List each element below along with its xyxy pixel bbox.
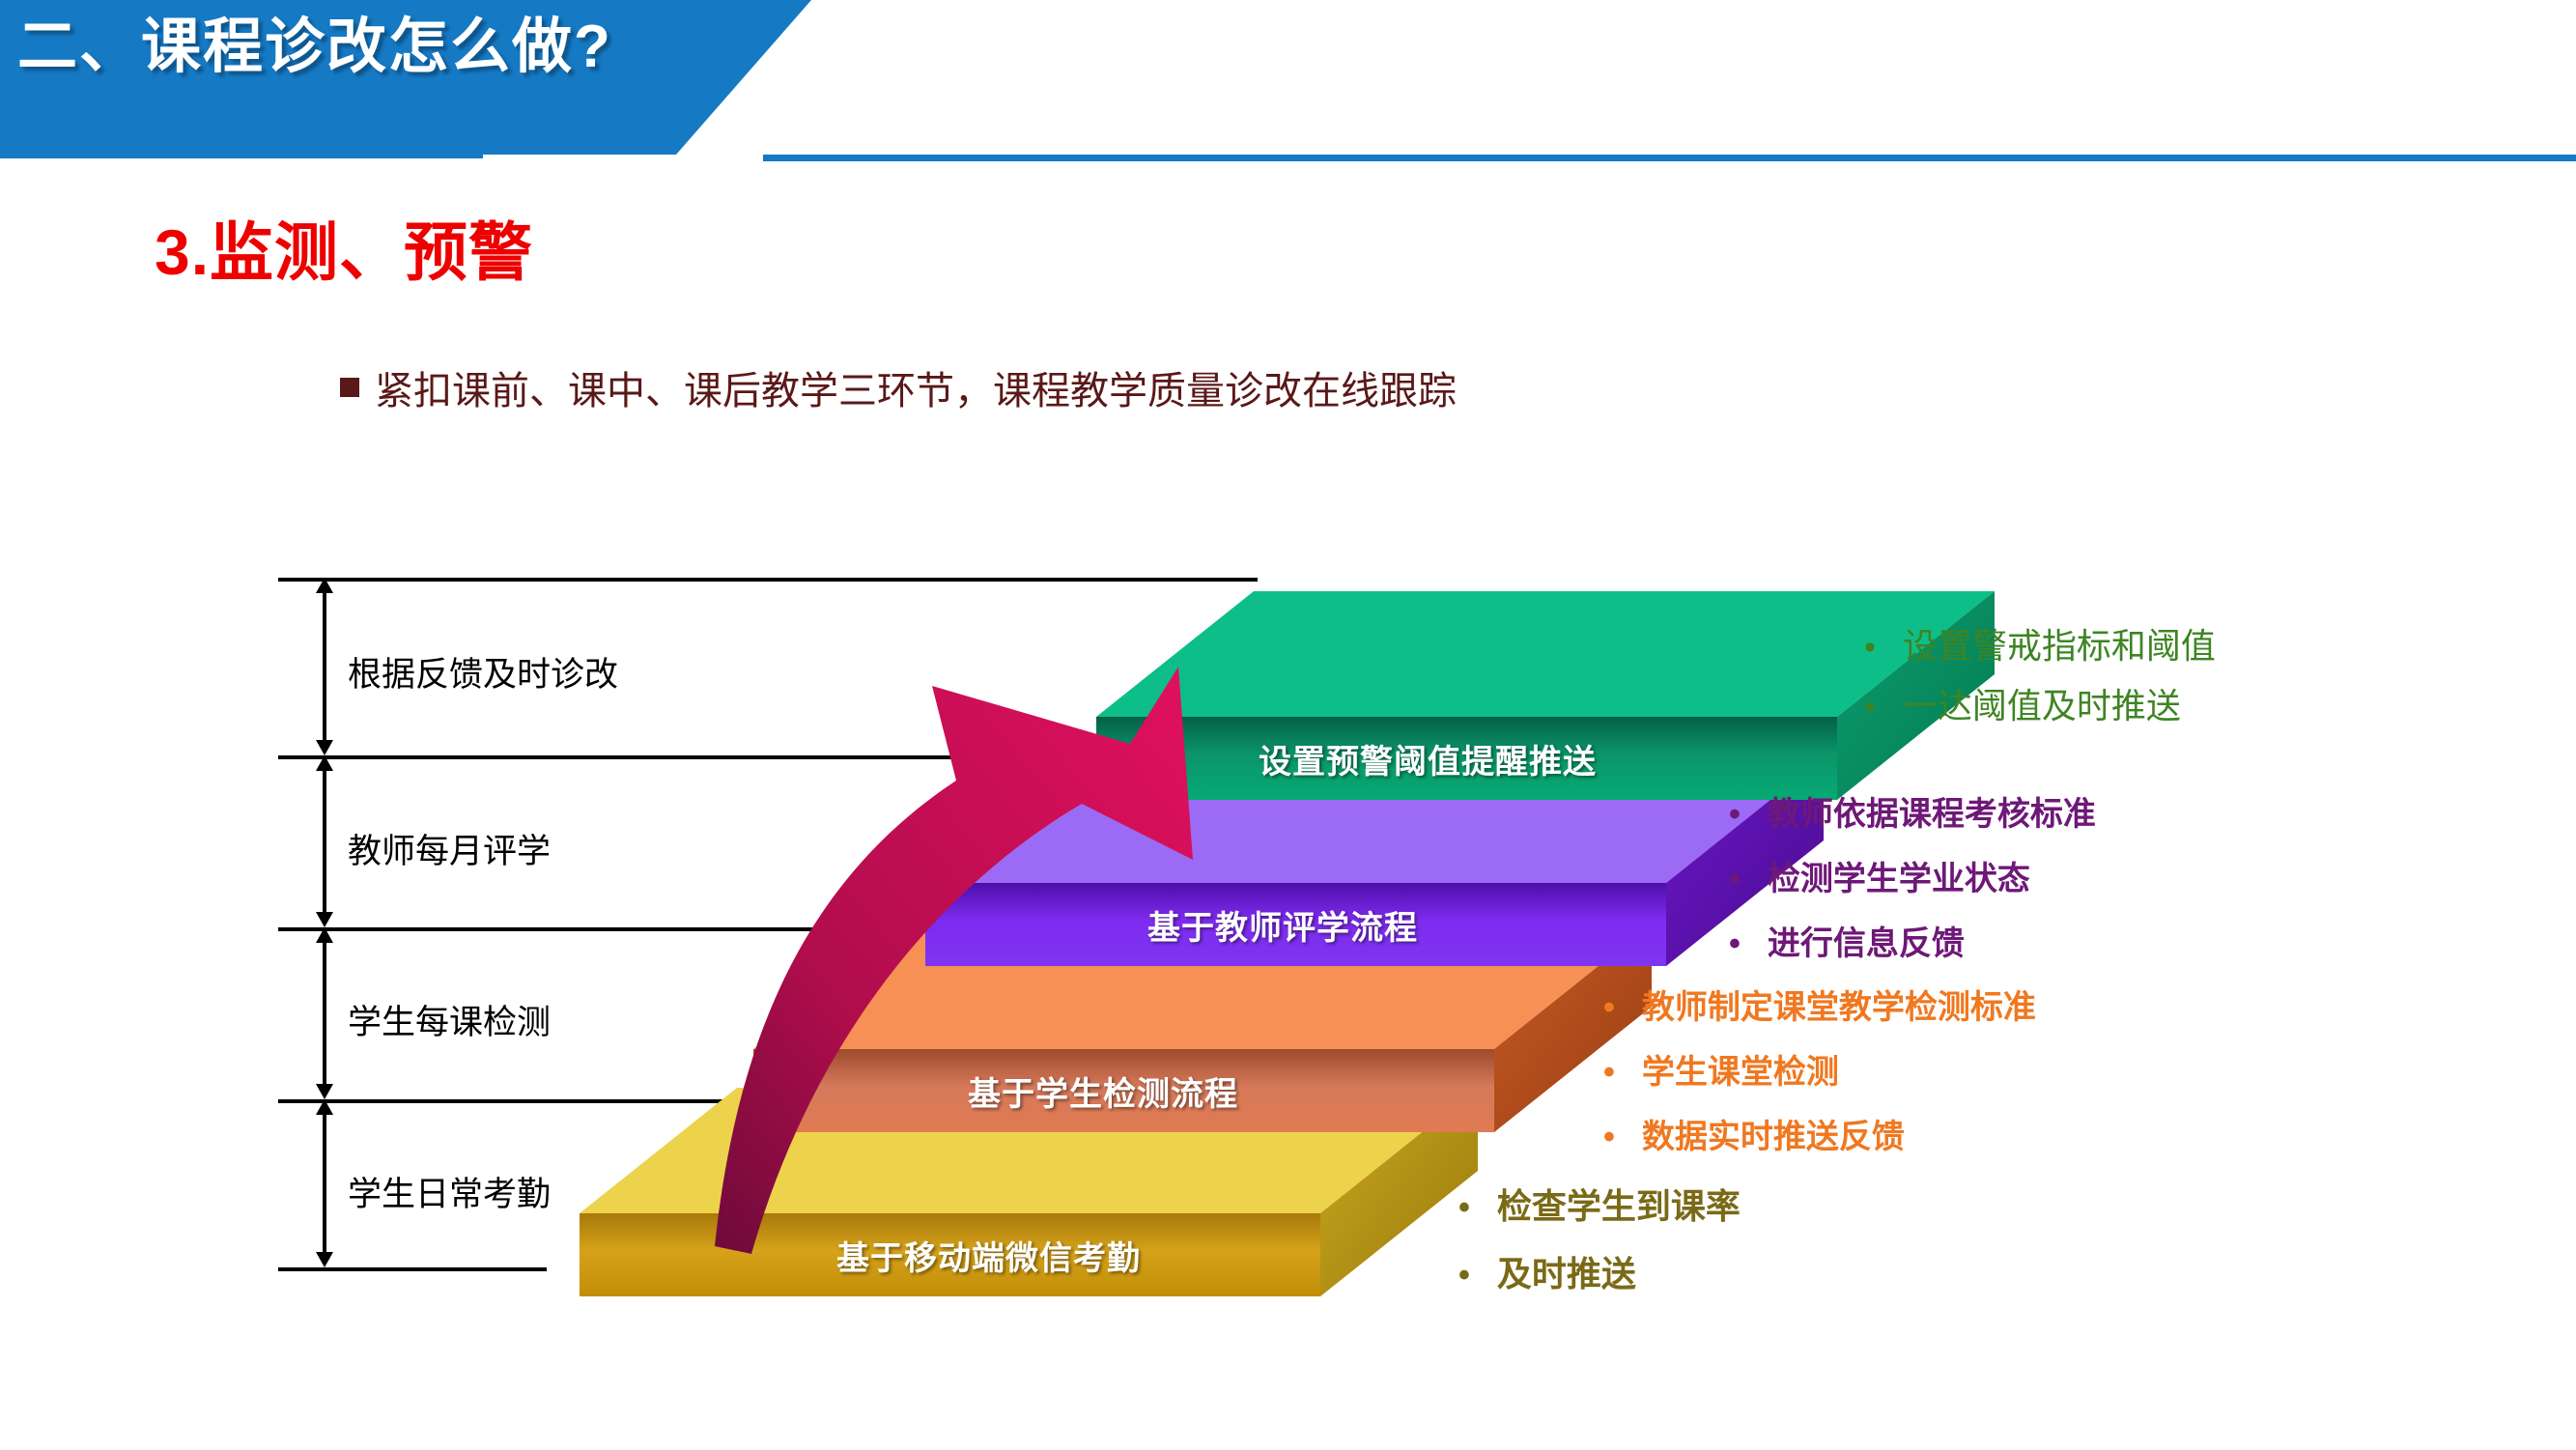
bullet-dot-icon: • <box>1864 631 1876 664</box>
bullet-dot-icon: • <box>1458 1191 1470 1224</box>
lead-bullet-text: 紧扣课前、课中、课后教学三环节，课程教学质量诊改在线跟踪 <box>375 359 1457 415</box>
axis-bracket-2 <box>316 755 333 927</box>
note-text: 数据实时推送反馈 <box>1642 1110 1905 1157</box>
page-title: 二、课程诊改怎么做? <box>17 17 751 77</box>
square-bullet-icon <box>340 378 359 397</box>
header-divider-rule <box>763 155 2576 161</box>
note-item: • 一达阈值及时推送 <box>1864 678 2216 728</box>
bullet-dot-icon: • <box>1729 863 1741 896</box>
note-text: 学生课堂检测 <box>1642 1045 1839 1093</box>
bracket-stem <box>323 589 326 744</box>
note-item: • 设置警戒指标和阈值 <box>1864 618 2216 668</box>
note-item: • 检查学生到课率 <box>1458 1179 1741 1229</box>
arrow-down-icon <box>316 1252 333 1267</box>
notes-green: • 设置警戒指标和阈值 • 一达阈值及时推送 <box>1864 618 2216 738</box>
note-text: 检测学生学业状态 <box>1768 852 2030 899</box>
arrow-down-icon <box>316 1084 333 1099</box>
note-item: • 教师依据课程考核标准 <box>1729 787 2096 835</box>
bullet-dot-icon: • <box>1729 798 1741 831</box>
stair-label-purple: 基于教师评学流程 <box>1147 901 1418 949</box>
note-item: • 及时推送 <box>1458 1246 1741 1296</box>
note-item: • 进行信息反馈 <box>1729 917 2096 964</box>
staircase-diagram: 根据反馈及时诊改 教师每月评学 学生每课检测 学生日常考勤 <box>0 541 2576 1410</box>
note-text: 进行信息反馈 <box>1768 917 1965 964</box>
stair-label-green: 设置预警阈值提醒推送 <box>1259 735 1597 782</box>
stair-label-orange: 基于学生检测流程 <box>968 1067 1238 1115</box>
note-text: 教师依据课程考核标准 <box>1768 787 2096 835</box>
note-item: • 学生课堂检测 <box>1603 1045 2036 1093</box>
note-text: 教师制定课堂教学检测标准 <box>1642 981 2036 1028</box>
bullet-dot-icon: • <box>1864 691 1876 724</box>
header-banner-underbar <box>0 143 483 158</box>
bracket-stem <box>323 939 326 1088</box>
bracket-stem <box>323 767 326 916</box>
green-top-face <box>1096 591 1995 717</box>
section-title: 3.监测、预警 <box>155 201 533 294</box>
axis-bracket-1 <box>316 578 333 755</box>
notes-orange: • 教师制定课堂教学检测标准 • 学生课堂检测 • 数据实时推送反馈 <box>1603 981 2036 1175</box>
axis-label-3: 学生每课检测 <box>348 995 551 1044</box>
bullet-dot-icon: • <box>1729 927 1741 960</box>
notes-olive: • 检查学生到课率 • 及时推送 <box>1458 1179 1741 1314</box>
axis-label-1: 根据反馈及时诊改 <box>348 647 618 697</box>
axis-bracket-3 <box>316 927 333 1099</box>
note-text: 设置警戒指标和阈值 <box>1903 618 2216 668</box>
note-text: 及时推送 <box>1497 1246 1636 1296</box>
bullet-dot-icon: • <box>1458 1259 1470 1292</box>
bullet-dot-icon: • <box>1603 1056 1615 1089</box>
note-item: • 数据实时推送反馈 <box>1603 1110 2036 1157</box>
axis-rule-bottom <box>278 1267 547 1271</box>
note-text: 检查学生到课率 <box>1497 1179 1741 1229</box>
arrow-down-icon <box>316 912 333 927</box>
lead-bullet: 紧扣课前、课中、课后教学三环节，课程教学质量诊改在线跟踪 <box>340 359 1457 415</box>
stair-label-yellow: 基于移动端微信考勤 <box>836 1232 1141 1279</box>
note-item: • 检测学生学业状态 <box>1729 852 2096 899</box>
arrow-down-icon <box>316 740 333 755</box>
axis-bracket-4 <box>316 1099 333 1267</box>
bracket-stem <box>323 1111 326 1256</box>
bullet-dot-icon: • <box>1603 1121 1615 1153</box>
axis-rule-top <box>278 578 1258 582</box>
note-item: • 教师制定课堂教学检测标准 <box>1603 981 2036 1028</box>
axis-label-2: 教师每月评学 <box>348 824 551 873</box>
header-banner: 二、课程诊改怎么做? <box>0 0 811 155</box>
axis-label-4: 学生日常考勤 <box>348 1167 551 1216</box>
bullet-dot-icon: • <box>1603 991 1615 1024</box>
note-text: 一达阈值及时推送 <box>1903 678 2181 728</box>
notes-purple: • 教师依据课程考核标准 • 检测学生学业状态 • 进行信息反馈 <box>1729 787 2096 981</box>
